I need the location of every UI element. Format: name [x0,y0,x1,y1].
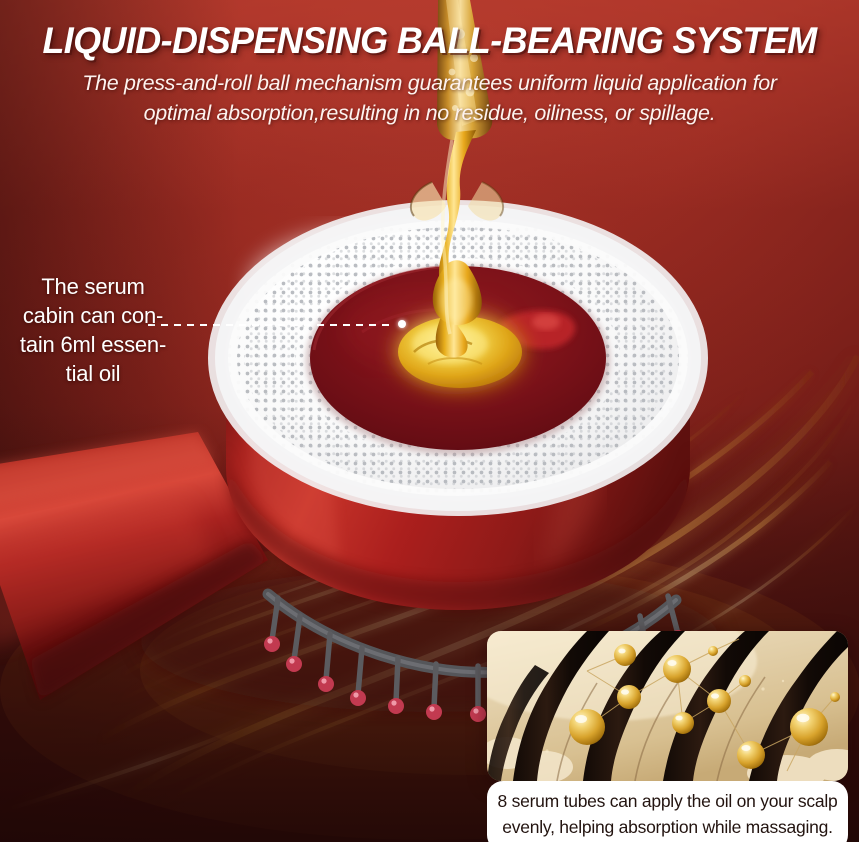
callout-line-2: cabin can con- [4,301,182,330]
hair-follicle-illustration [487,631,848,781]
subtitle-line-1: The press-and-roll ball mechanism guaran… [50,68,810,98]
serum-cabin-callout: The serum cabin can con- tain 6ml essen-… [4,272,182,388]
callout-leader-line [148,322,406,328]
callout-line-3: tain 6ml essen- [4,330,182,359]
subtitle-line-2: optimal absorption,resulting in no resid… [50,98,810,128]
product-feature-poster: The serum cabin can con- tain 6ml essen-… [0,0,859,842]
callout-line-1: The serum [4,272,182,301]
leader-endpoint-dot [398,320,406,328]
poster-header: LIQUID-DISPENSING BALL-BEARING SYSTEM Th… [0,0,859,128]
page-subtitle: The press-and-roll ball mechanism guaran… [50,68,810,128]
caption-line-2: evenly, helping absorption while massagi… [497,814,838,840]
caption-line-1: 8 serum tubes can apply the oil on your … [497,788,838,814]
hair-follicle-inset-panel [487,631,848,781]
inset-caption: 8 serum tubes can apply the oil on your … [487,781,848,842]
page-title: LIQUID-DISPENSING BALL-BEARING SYSTEM [21,20,839,62]
leader-dash [148,324,394,326]
callout-line-4: tial oil [4,359,182,388]
